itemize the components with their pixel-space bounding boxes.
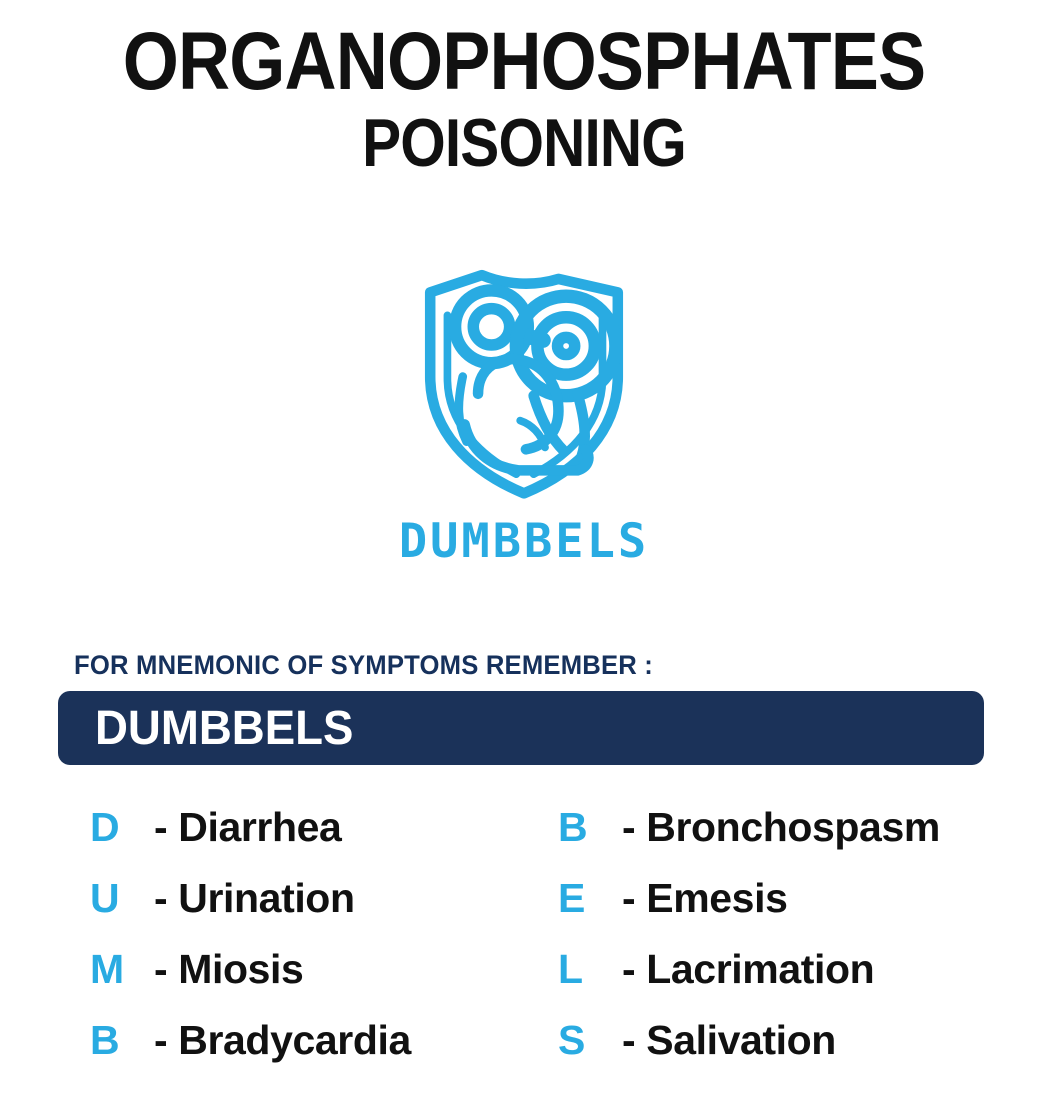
- mnemonic-term-text: Emesis: [646, 875, 787, 921]
- mnemonic-columns: D - Diarrhea U - Urination M - Miosis B …: [0, 792, 1048, 1076]
- logo-wordmark: DUMBBELS: [0, 517, 1048, 567]
- list-item: E - Emesis: [558, 863, 1018, 934]
- mnemonic-letter: S: [558, 1017, 622, 1064]
- mnemonic-term: - Emesis: [622, 875, 787, 922]
- list-item: U - Urination: [90, 863, 530, 934]
- mnemonic-letter: D: [90, 804, 154, 851]
- page-title: ORGANOPHOSPHATES: [63, 22, 985, 102]
- mnemonic-separator: -: [622, 875, 635, 921]
- mnemonic-term: - Miosis: [154, 946, 303, 993]
- list-item: L - Lacrimation: [558, 934, 1018, 1005]
- mnemonic-term: - Diarrhea: [154, 804, 341, 851]
- title-block: ORGANOPHOSPHATES POISONING: [0, 0, 1048, 176]
- mnemonic-letter: M: [90, 946, 154, 993]
- mnemonic-term-text: Diarrhea: [178, 804, 341, 850]
- mnemonic-banner: DUMBBELS: [58, 691, 984, 765]
- mnemonic-separator: -: [154, 875, 167, 921]
- mnemonic-kicker-label: FOR MNEMONIC OF SYMPTOMS REMEMBER :: [74, 650, 653, 681]
- mnemonic-term-text: Lacrimation: [646, 946, 874, 992]
- mnemonic-term-text: Bradycardia: [178, 1017, 411, 1063]
- mnemonic-letter: L: [558, 946, 622, 993]
- mnemonic-separator: -: [154, 804, 167, 850]
- list-item: B - Bronchospasm: [558, 792, 1018, 863]
- mnemonic-term: - Salivation: [622, 1017, 836, 1064]
- mnemonic-letter: B: [558, 804, 622, 851]
- mnemonic-term-text: Miosis: [178, 946, 303, 992]
- shield-flexing-arm-dumbbell-icon: [390, 232, 658, 502]
- mnemonic-banner-label: DUMBBELS: [95, 701, 353, 756]
- mnemonic-term-text: Salivation: [646, 1017, 836, 1063]
- list-item: B - Bradycardia: [90, 1005, 530, 1076]
- mnemonic-column-left: D - Diarrhea U - Urination M - Miosis B …: [90, 792, 530, 1076]
- mnemonic-separator: -: [154, 946, 167, 992]
- mnemonic-column-right: B - Bronchospasm E - Emesis L - Lacrimat…: [558, 792, 1018, 1076]
- mnemonic-separator: -: [622, 804, 635, 850]
- mnemonic-term: - Urination: [154, 875, 355, 922]
- list-item: S - Salivation: [558, 1005, 1018, 1076]
- list-item: D - Diarrhea: [90, 792, 530, 863]
- mnemonic-letter: U: [90, 875, 154, 922]
- mnemonic-separator: -: [622, 946, 635, 992]
- page-subtitle: POISONING: [73, 110, 974, 176]
- mnemonic-term: - Bronchospasm: [622, 804, 940, 851]
- mnemonic-separator: -: [622, 1017, 635, 1063]
- mnemonic-letter: E: [558, 875, 622, 922]
- list-item: M - Miosis: [90, 934, 530, 1005]
- mnemonic-term-text: Urination: [178, 875, 354, 921]
- mnemonic-term: - Lacrimation: [622, 946, 874, 993]
- mnemonic-letter: B: [90, 1017, 154, 1064]
- mnemonic-term-text: Bronchospasm: [646, 804, 940, 850]
- mnemonic-separator: -: [154, 1017, 167, 1063]
- mnemonic-term: - Bradycardia: [154, 1017, 411, 1064]
- logo-block: DUMBBELS: [0, 232, 1048, 567]
